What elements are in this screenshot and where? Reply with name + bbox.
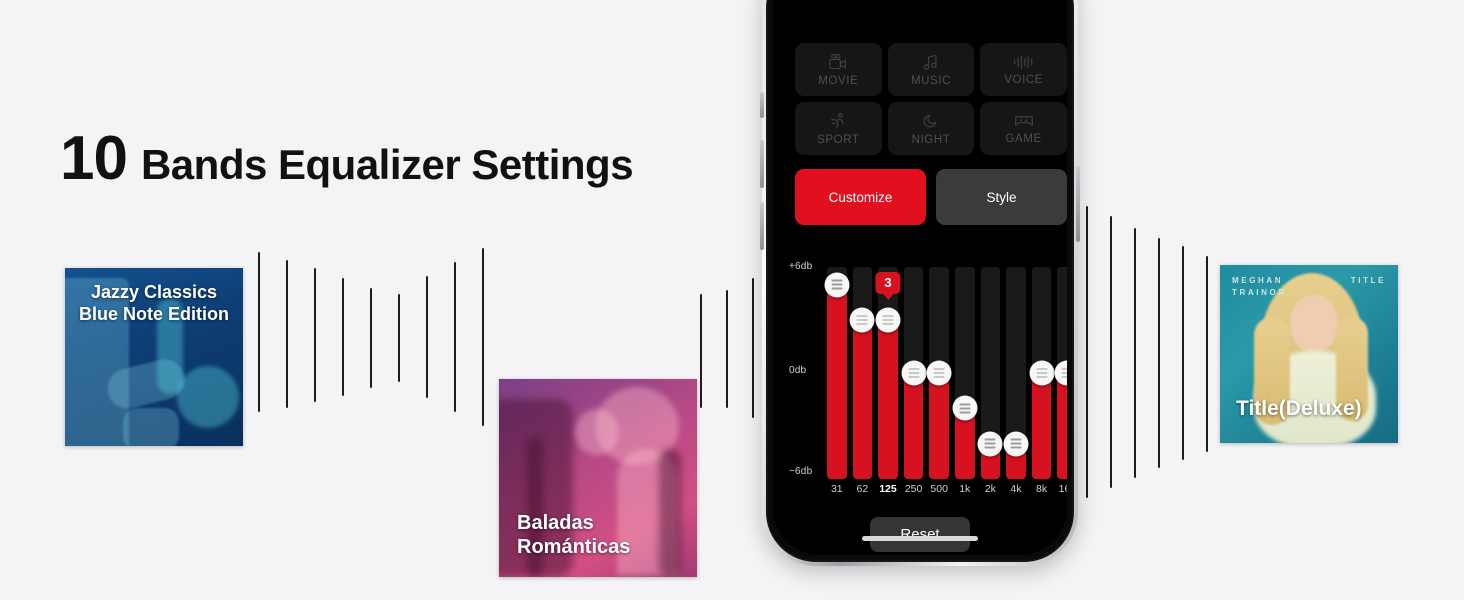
eq-thumb[interactable] (952, 396, 977, 421)
running-person-icon (829, 112, 847, 130)
mute-switch[interactable] (760, 92, 764, 118)
freq-label-2k: 2k (981, 483, 1001, 495)
eq-band-31[interactable] (827, 267, 847, 479)
eq-fill (904, 373, 924, 479)
home-indicator[interactable] (862, 536, 978, 541)
eq-thumb[interactable] (824, 272, 849, 297)
eq-band-62[interactable] (853, 267, 873, 479)
preset-label: MOVIE (818, 75, 858, 87)
freq-label-250: 250 (904, 483, 924, 495)
eq-band-2k[interactable] (981, 267, 1001, 479)
eq-fill (827, 285, 847, 479)
eq-track[interactable] (1057, 267, 1067, 479)
freq-label-1k: 1k (955, 483, 975, 495)
voice-wave-icon (1013, 54, 1035, 70)
eq-fill (878, 320, 898, 479)
freq-label-500: 500 (929, 483, 949, 495)
eq-thumb[interactable] (875, 308, 900, 333)
axis-label-middle: 0db (789, 365, 806, 376)
preset-grid: MOVIE MUSIC (795, 43, 1067, 155)
preset-sport[interactable]: SPORT (795, 102, 882, 155)
reset-button[interactable]: Reset (870, 517, 969, 552)
album-caption-line1: Baladas (517, 511, 687, 535)
eq-thumb[interactable] (927, 361, 952, 386)
promo-banner: 10 Bands Equalizer Settings (0, 0, 1464, 600)
preset-label: SPORT (817, 134, 859, 146)
axis-label-bottom: −6db (789, 466, 812, 477)
eq-band-8k[interactable] (1032, 267, 1052, 479)
eq-band-16k[interactable] (1057, 267, 1067, 479)
eq-band-250[interactable] (904, 267, 924, 479)
volume-up-button[interactable] (760, 140, 764, 188)
album-caption: Title(Deluxe) (1236, 396, 1390, 421)
power-button[interactable] (1076, 166, 1080, 242)
eq-value-tooltip: 3 (875, 272, 900, 294)
album-caption: Jazzy Classics Blue Note Edition (65, 282, 243, 325)
waveform-left (258, 230, 508, 480)
eq-track[interactable] (981, 267, 1001, 479)
style-button[interactable]: Style (936, 169, 1067, 225)
eq-track[interactable] (955, 267, 975, 479)
preset-label: GAME (1006, 133, 1042, 145)
eq-fill (929, 373, 949, 479)
eq-thumb[interactable] (1029, 361, 1054, 386)
album-artist-line2: TRAINOR (1232, 287, 1287, 299)
eq-fill (1057, 373, 1067, 479)
album-mark: TITLE (1351, 275, 1386, 287)
eq-thumb[interactable] (978, 431, 1003, 456)
freq-label-125: 125 (878, 483, 898, 495)
equalizer-sliders: 3 (827, 267, 1067, 479)
frequency-labels: 31621252505001k2k4k8k16k (827, 483, 1067, 495)
freq-label-16k: 16k (1057, 483, 1067, 495)
volume-down-button[interactable] (760, 202, 764, 250)
album-artist-name: MEGHAN TRAINOR (1232, 275, 1287, 299)
album-artist-line1: MEGHAN (1232, 275, 1287, 287)
equalizer-panel: +6db 0db −6db 3 31621252505001k2k4k8k16k (783, 261, 1067, 507)
music-note-icon (922, 53, 940, 71)
album-caption-line1: Title(Deluxe) (1236, 396, 1390, 421)
album-cover-jazzy-classics[interactable]: Jazzy Classics Blue Note Edition (65, 268, 243, 446)
freq-label-8k: 8k (1032, 483, 1052, 495)
album-cover-title-deluxe[interactable]: MEGHAN TRAINOR TITLE Title(Deluxe) (1220, 265, 1398, 443)
headline-number: 10 (60, 128, 127, 190)
eq-band-500[interactable] (929, 267, 949, 479)
eq-track[interactable] (827, 267, 847, 479)
eq-band-125[interactable]: 3 (878, 267, 898, 479)
preset-label: MUSIC (911, 75, 951, 87)
moon-icon (922, 112, 940, 130)
eq-track[interactable] (853, 267, 873, 479)
eq-fill (853, 320, 873, 479)
page-title: 10 Bands Equalizer Settings (60, 128, 633, 190)
album-caption-line2: Románticas (517, 535, 687, 559)
eq-fill (1032, 373, 1052, 479)
waveform-right (1086, 180, 1226, 520)
reset-row: Reset (773, 517, 1067, 552)
preset-night[interactable]: NIGHT (888, 102, 975, 155)
album-caption: Baladas Románticas (517, 511, 687, 559)
phone-screen: MOVIE MUSIC (773, 0, 1067, 555)
waveform-center (700, 230, 760, 490)
eq-thumb[interactable] (850, 308, 875, 333)
headline-text: Bands Equalizer Settings (141, 144, 633, 186)
eq-track[interactable] (929, 267, 949, 479)
eq-track[interactable] (1032, 267, 1052, 479)
eq-track[interactable] (1006, 267, 1026, 479)
video-camera-icon (828, 53, 848, 71)
axis-label-top: +6db (789, 261, 812, 272)
game-controller-icon (1014, 113, 1034, 129)
freq-label-4k: 4k (1006, 483, 1026, 495)
eq-band-1k[interactable] (955, 267, 975, 479)
album-caption-line2: Blue Note Edition (65, 304, 243, 326)
eq-track[interactable] (904, 267, 924, 479)
preset-movie[interactable]: MOVIE (795, 43, 882, 96)
preset-label: NIGHT (912, 134, 951, 146)
eq-thumb[interactable] (1003, 431, 1028, 456)
phone-device: MOVIE MUSIC (762, 0, 1078, 566)
preset-music[interactable]: MUSIC (888, 43, 975, 96)
album-cover-baladas-romanticas[interactable]: Baladas Románticas (499, 379, 697, 577)
customize-button[interactable]: Customize (795, 169, 926, 225)
freq-label-31: 31 (827, 483, 847, 495)
phone-bezel: MOVIE MUSIC (766, 0, 1074, 562)
preset-game[interactable]: GAME (980, 102, 1067, 155)
eq-track[interactable]: 3 (878, 267, 898, 479)
mode-buttons: Customize Style (795, 169, 1067, 225)
eq-thumb[interactable] (901, 361, 926, 386)
album-caption-line1: Jazzy Classics (65, 282, 243, 304)
freq-label-62: 62 (853, 483, 873, 495)
preset-voice[interactable]: VOICE (980, 43, 1067, 96)
preset-label: VOICE (1004, 74, 1043, 86)
eq-band-4k[interactable] (1006, 267, 1026, 479)
